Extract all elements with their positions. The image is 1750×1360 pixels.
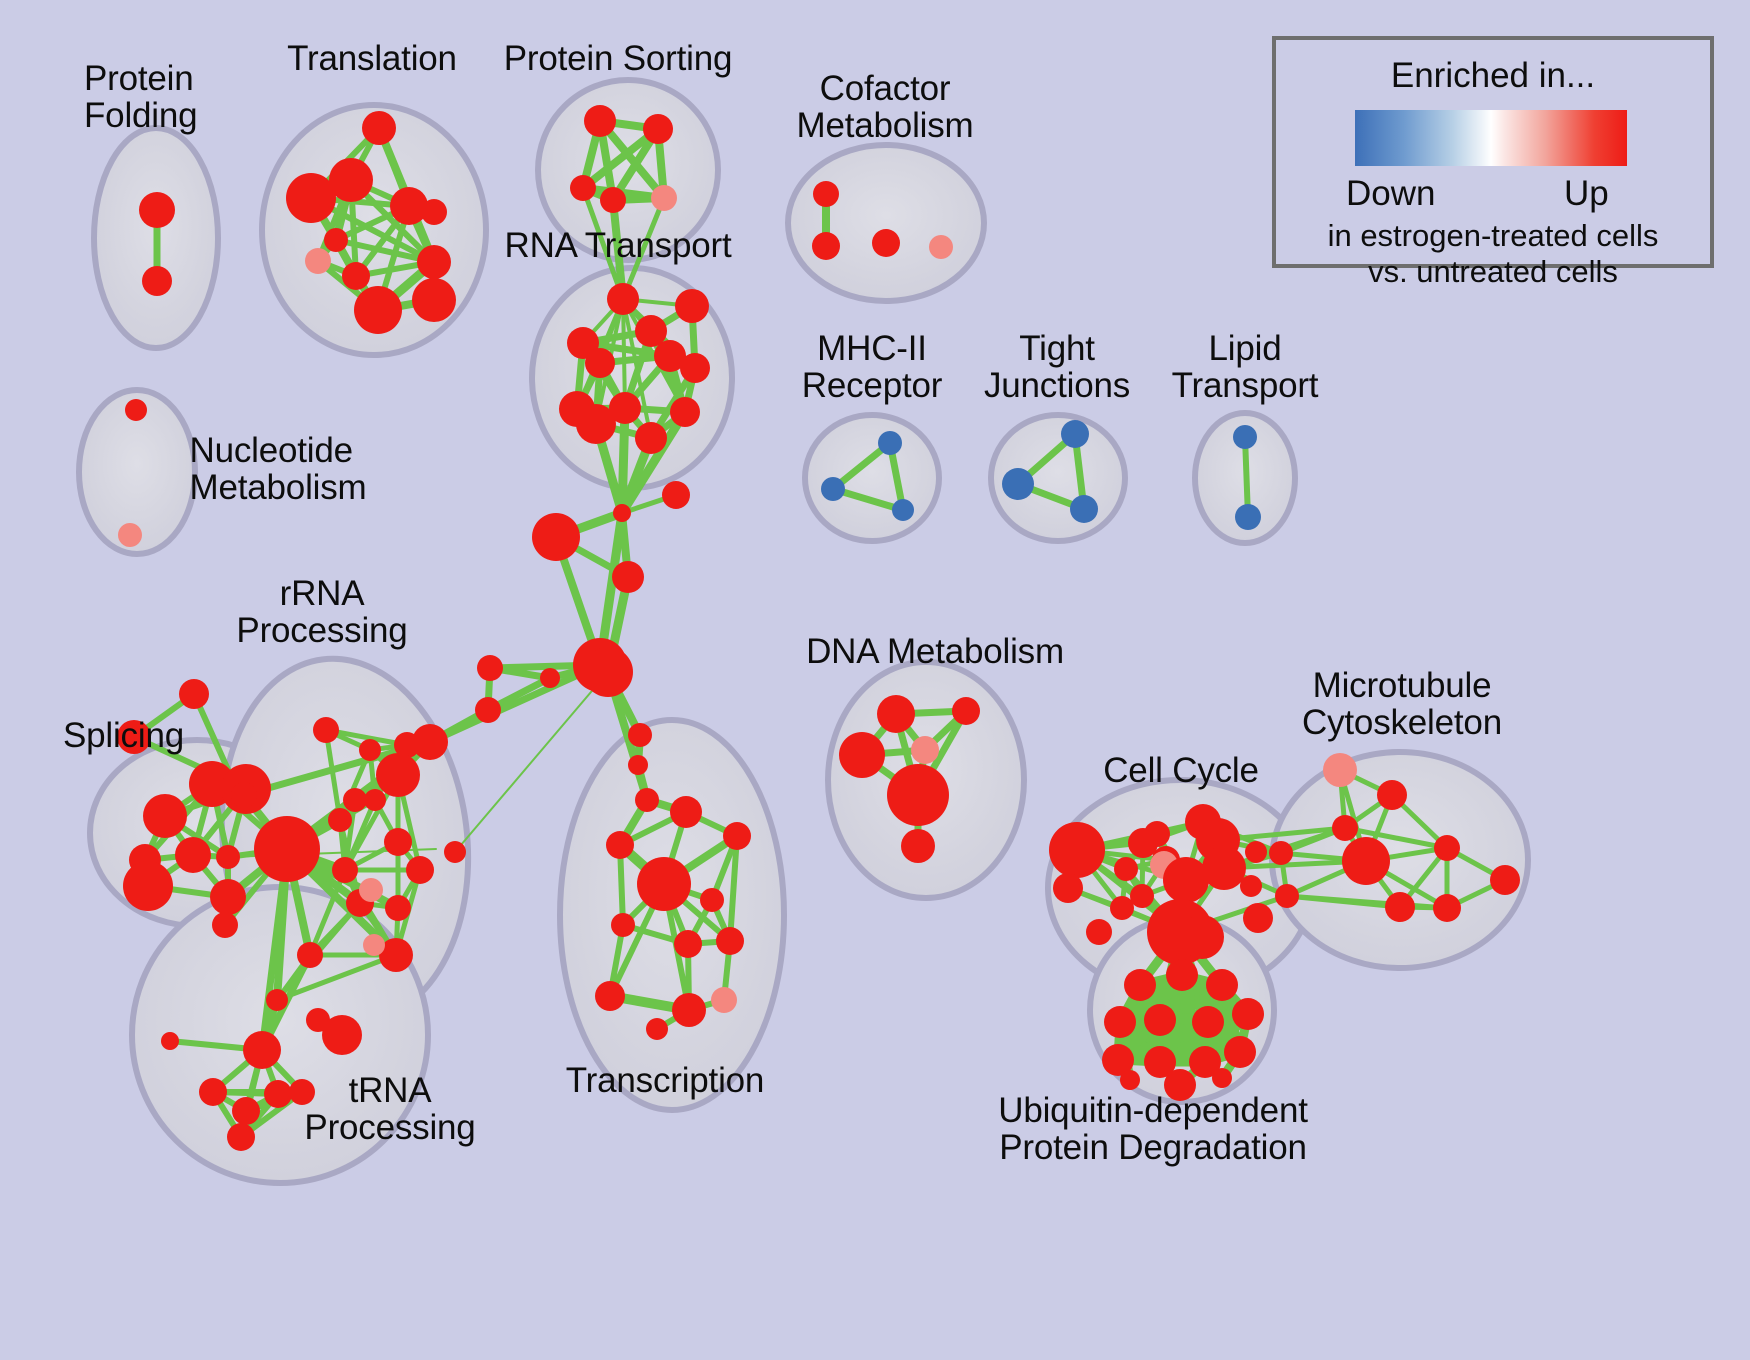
cluster-label-mhc-ii-receptor: MHC-II Receptor [802, 330, 942, 405]
cluster-label-protein-folding: Protein Folding [84, 60, 197, 135]
cluster-label-tight-junctions: Tight Junctions [984, 330, 1130, 405]
hull-cofactor [788, 145, 984, 301]
legend-subtitle-line1: in estrogen-treated cells [1276, 218, 1710, 254]
cluster-label-ubiquitin-protein-degradation: Ubiquitin-dependent Protein Degradation [998, 1092, 1308, 1167]
cluster-label-nucleotide-metabolism: Nucleotide Metabolism [190, 432, 367, 507]
cluster-label-transcription: Transcription [566, 1062, 764, 1099]
legend-down-label: Down [1346, 174, 1435, 214]
legend-color-gradient-bar [1355, 110, 1627, 166]
cluster-label-cell-cycle: Cell Cycle [1103, 752, 1259, 789]
legend-box: Enriched in... Down Up in estrogen-treat… [1272, 36, 1714, 268]
cluster-label-protein-sorting: Protein Sorting [504, 40, 733, 77]
cluster-label-microtubule-cytoskeleton: Microtubule Cytoskeleton [1302, 667, 1502, 742]
cluster-label-lipid-transport: Lipid Transport [1172, 330, 1319, 405]
legend-subtitle-line2: vs. untreated cells [1276, 254, 1710, 290]
legend-title: Enriched in... [1276, 56, 1710, 96]
legend-up-label: Up [1564, 174, 1609, 214]
enrichment-network-figure: .hull{fill:url(#cgrad);stroke:#a9a8c4;st… [0, 0, 1750, 1360]
cluster-label-translation: Translation [287, 40, 457, 77]
hull-mhc2 [805, 415, 939, 541]
cluster-label-cofactor-metabolism: Cofactor Metabolism [797, 70, 974, 145]
cluster-label-rrna-processing: rRNA Processing [236, 575, 407, 650]
cluster-label-splicing: Splicing [63, 717, 184, 754]
cluster-label-trna-processing: tRNA Processing [304, 1072, 475, 1147]
cluster-label-rna-transport: RNA Transport [505, 227, 732, 264]
cluster-label-dna-metabolism: DNA Metabolism [806, 633, 1064, 670]
